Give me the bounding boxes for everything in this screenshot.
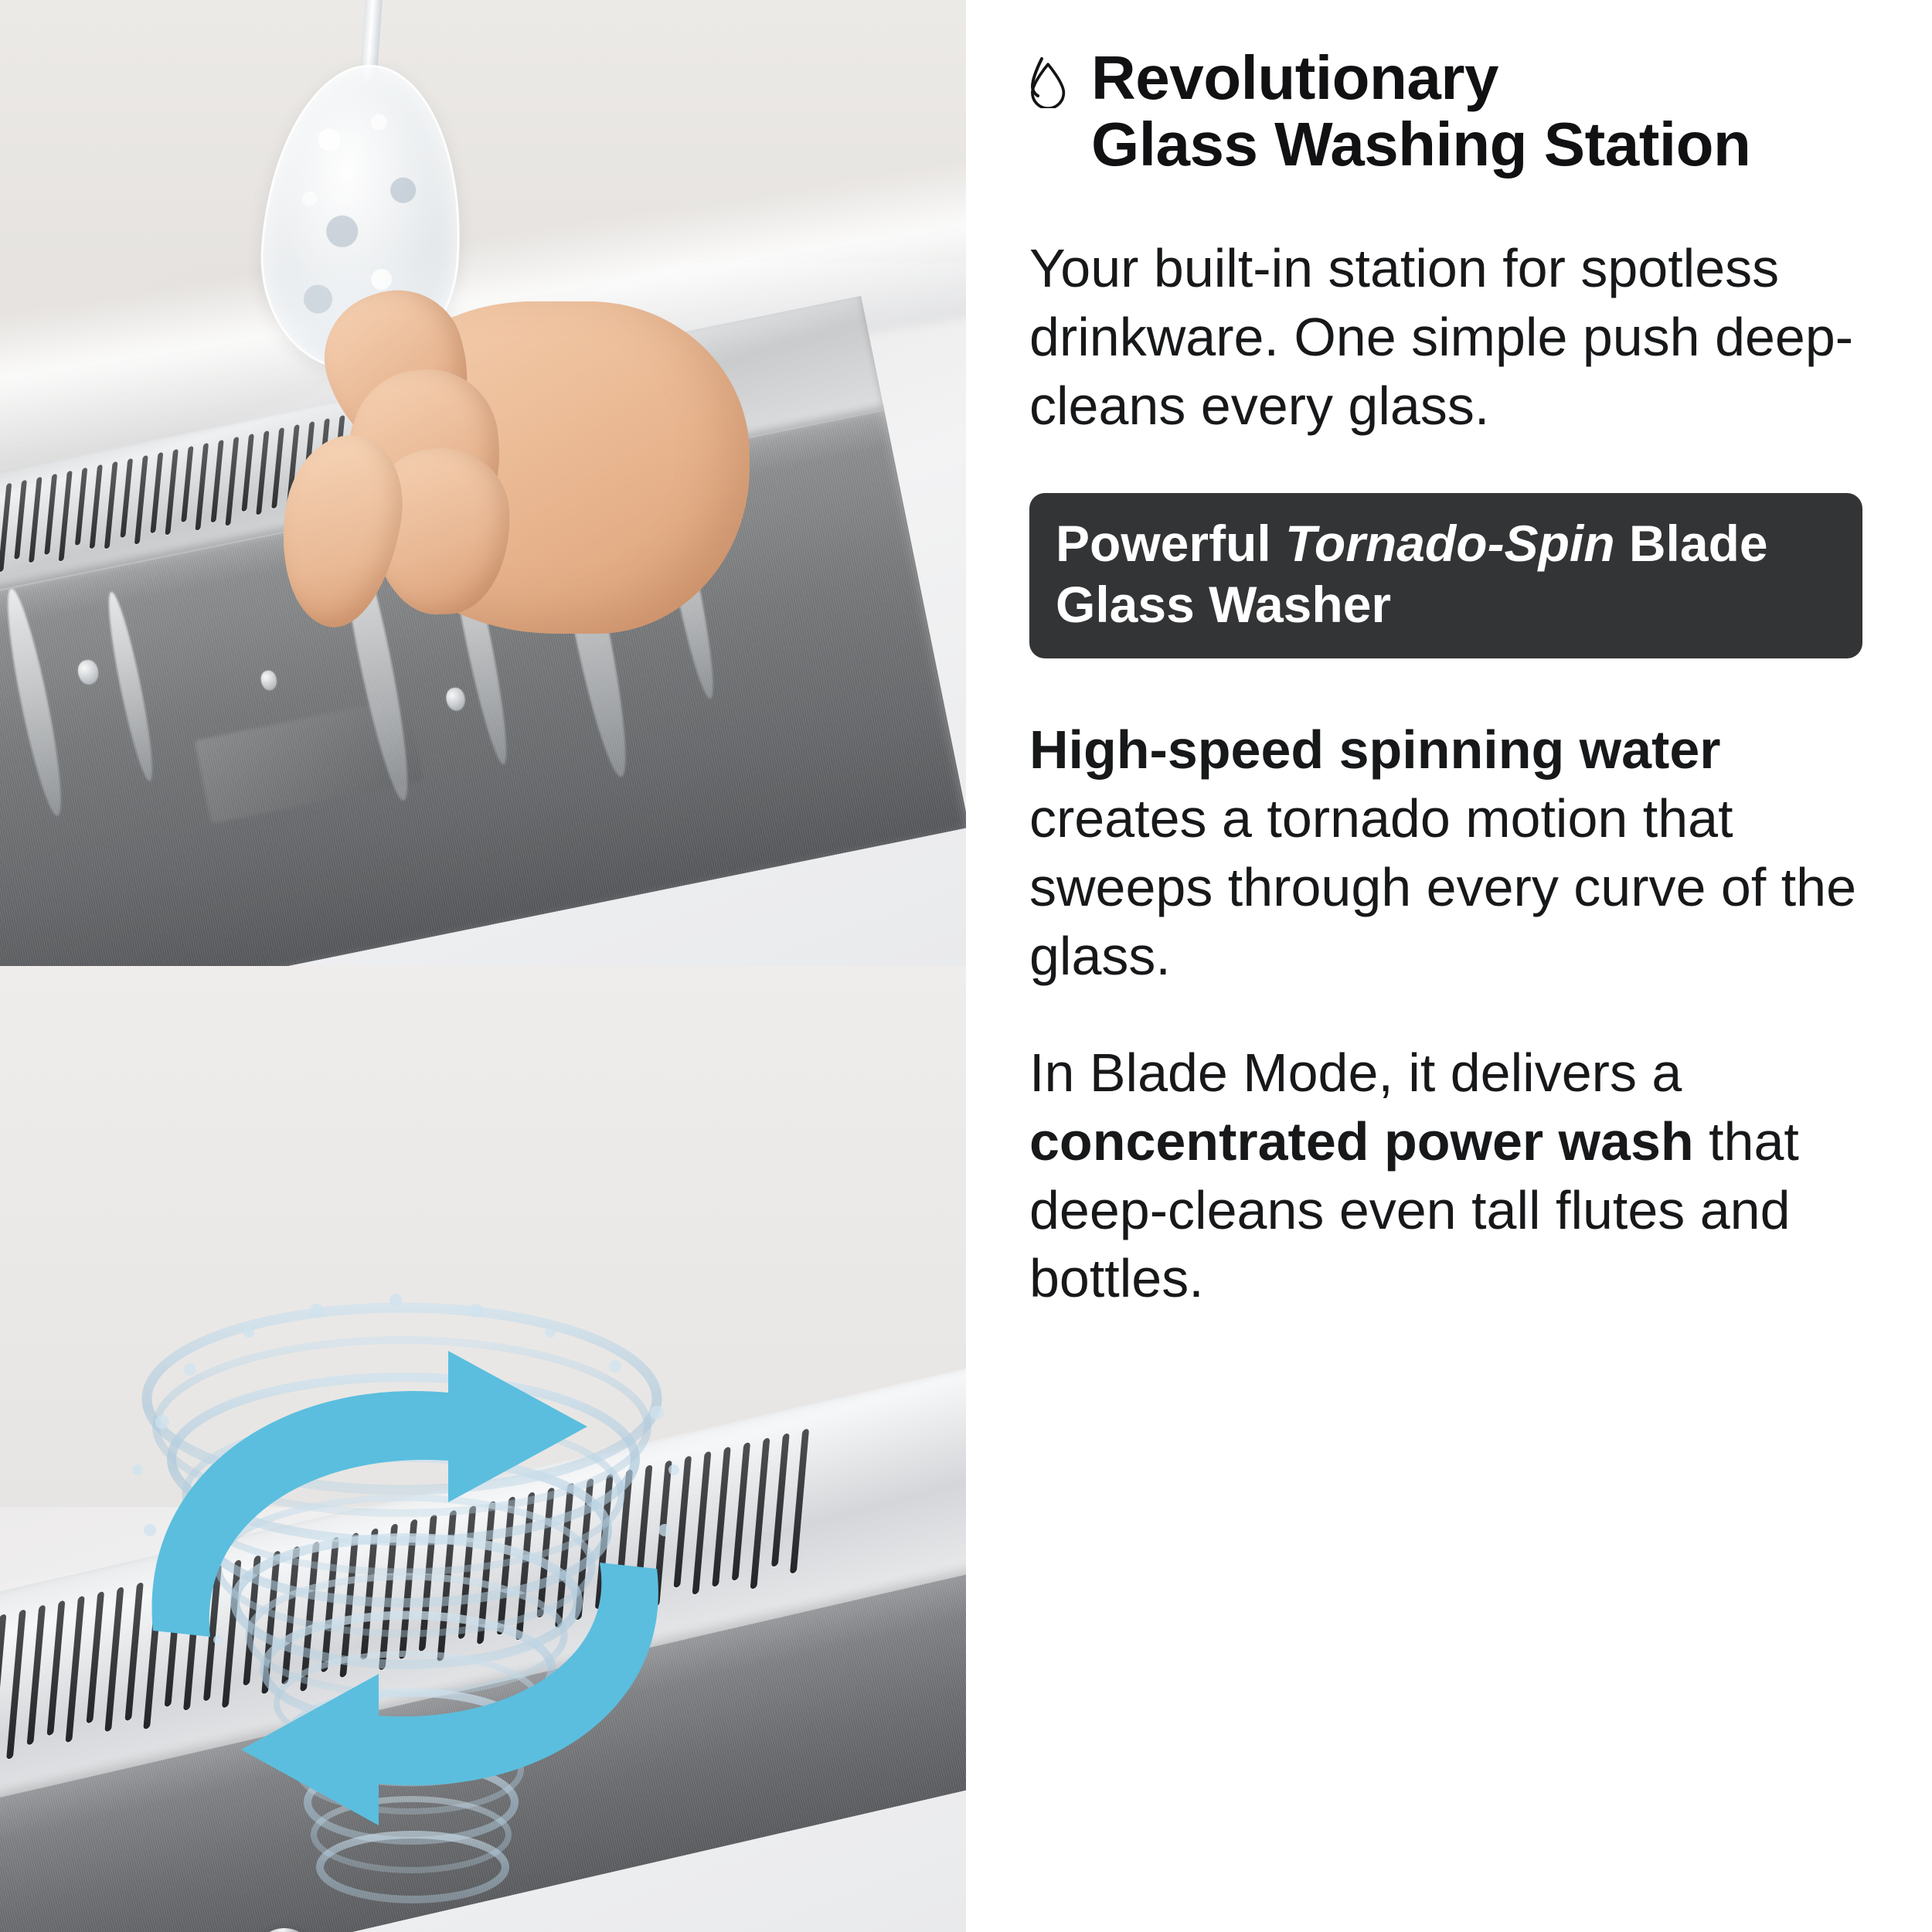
feature-paragraph-1: High-speed spinning water creates a torn… (1029, 716, 1862, 991)
text-column: RevolutionaryGlass Washing Station Your … (966, 0, 1932, 1932)
hand (255, 255, 734, 688)
status-badge: Powerful Tornado-Spin Blade Glass Washer (1029, 493, 1862, 658)
media-column (0, 0, 966, 1932)
water-drop-icon (1029, 53, 1074, 108)
paragraph-spacer (1029, 1026, 1862, 1039)
title-line-1: Revolutionary (1091, 43, 1498, 112)
badge-emphasis: Tornado-Spin (1285, 515, 1615, 572)
feature-2-bold-mid: concentrated power wash (1029, 1111, 1694, 1172)
page-title: RevolutionaryGlass Washing Station (1091, 45, 1750, 177)
badge-prefix: Powerful (1056, 515, 1285, 572)
hand-rinsing-wine-glass-photo (0, 0, 966, 966)
feature-1-rest: creates a tornado motion that sweeps thr… (1029, 788, 1856, 986)
intro-paragraph: Your built-in station for spotless drink… (1029, 234, 1862, 440)
feature-paragraph-2: In Blade Mode, it delivers a concentrate… (1029, 1039, 1862, 1314)
infographic-page: RevolutionaryGlass Washing Station Your … (0, 0, 1932, 1932)
tornado-spin-vortex-photo (0, 966, 966, 1932)
feature-1-bold-lead: High-speed spinning water (1029, 719, 1721, 780)
feature-2-lead: In Blade Mode, it delivers a (1029, 1043, 1682, 1103)
headline-block: RevolutionaryGlass Washing Station (1029, 45, 1862, 177)
title-line-2: Glass Washing Station (1091, 110, 1750, 179)
water-vortex-graphic (46, 1167, 757, 1932)
